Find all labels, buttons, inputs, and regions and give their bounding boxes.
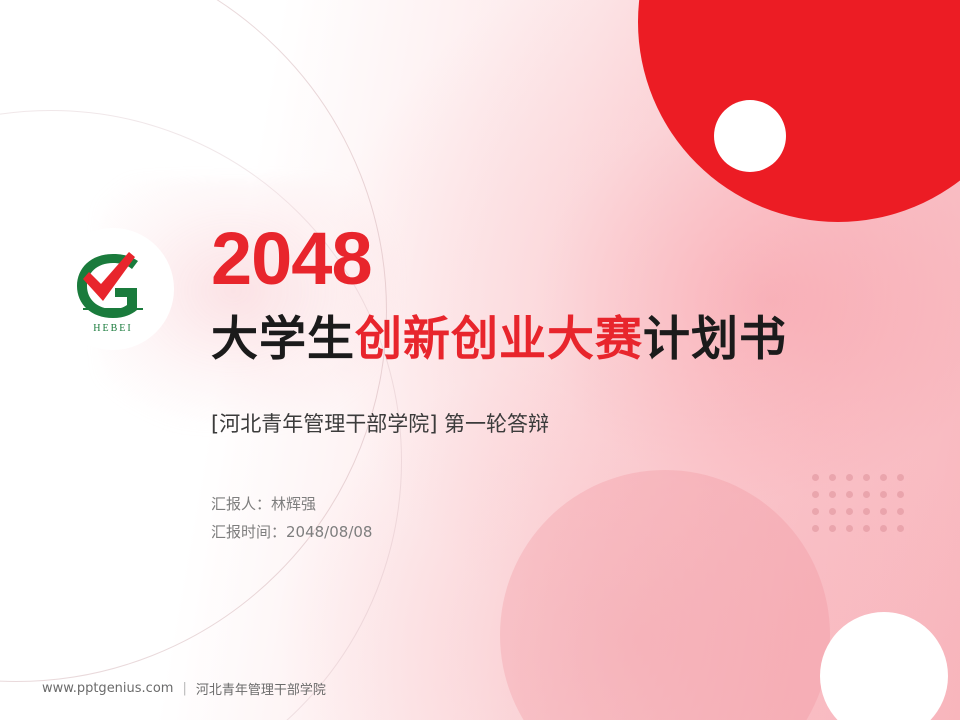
report-date-line: 汇报时间：2048/08/08 <box>211 518 372 546</box>
footer-organization: 河北青年管理干部学院 <box>196 679 326 698</box>
slide-headline: 大学生创新创业大赛计划书 <box>211 312 787 367</box>
logo-inner: HEBEI <box>65 246 161 332</box>
slide-year: 2048 <box>211 222 372 296</box>
dot-grid-pattern <box>812 474 914 542</box>
logo-caption: HEBEI <box>65 323 161 334</box>
white-circle-accent <box>714 100 786 172</box>
slide-meta: 汇报人：林辉强 汇报时间：2048/08/08 <box>211 490 372 546</box>
slide-subtitle: [河北青年管理干部学院] 第一轮答辩 <box>211 408 549 438</box>
headline-part-2: 创新创业大赛 <box>355 312 643 367</box>
footer-website: www.pptgenius.com <box>42 681 173 696</box>
presenter-line: 汇报人：林辉强 <box>211 490 372 518</box>
headline-part-1: 大学生 <box>211 312 355 367</box>
logo-mark-icon <box>65 246 161 332</box>
presentation-slide: HEBEI 2048 大学生创新创业大赛计划书 [河北青年管理干部学院] 第一轮… <box>0 0 960 720</box>
footer-separator: | <box>182 681 186 696</box>
college-logo: HEBEI <box>52 228 174 350</box>
slide-footer: www.pptgenius.com | 河北青年管理干部学院 <box>42 679 326 698</box>
headline-part-3: 计划书 <box>643 312 787 367</box>
